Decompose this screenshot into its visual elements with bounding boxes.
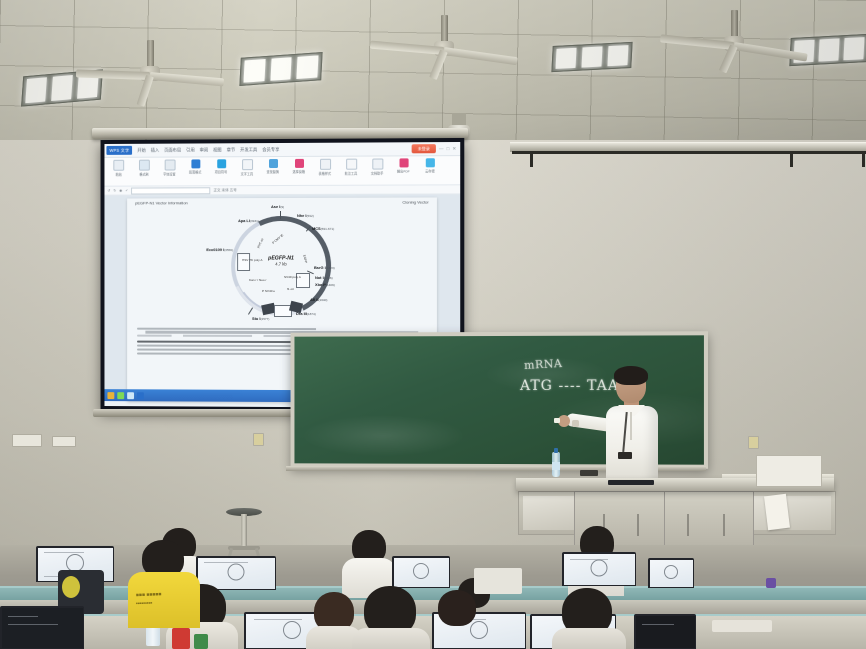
font-icon bbox=[164, 160, 175, 171]
paragraph-icon bbox=[191, 159, 200, 168]
remote-control[interactable] bbox=[580, 470, 598, 476]
redo-icon[interactable]: ↻ bbox=[113, 189, 116, 193]
plasmid-map-thumb bbox=[591, 560, 608, 577]
shirt-print-sub: ■■■■■■■■■ bbox=[136, 600, 153, 607]
ribbon-tab-0[interactable]: 开始 bbox=[137, 147, 145, 153]
laptop-lid bbox=[0, 606, 84, 649]
ribbon-button-cloud[interactable]: 云存储 bbox=[419, 158, 441, 173]
chalk-text-mrna: mRNA bbox=[524, 357, 563, 372]
start-icon[interactable] bbox=[107, 392, 114, 399]
plasmid-tick bbox=[248, 307, 253, 314]
site-label-stu1: Stu I(2577) bbox=[252, 316, 269, 321]
doc-header-left: pEGFP-N1 Vector Information bbox=[135, 200, 188, 205]
style-field[interactable] bbox=[131, 187, 210, 194]
ribbon-toolbar: 粘贴 格式刷 字体设置 段落格式 项目符号 文字工具 查找替换 选择窗格 表格样… bbox=[104, 156, 460, 187]
plasmid-map-thumb bbox=[283, 621, 301, 639]
desk-items bbox=[712, 620, 772, 632]
classroom-photo: WPS 文字 开始 插入 页面布局 引用 审阅 视图 章节 开发工具 会员专享 … bbox=[0, 0, 866, 649]
table-styles-icon bbox=[320, 159, 331, 170]
ribbon-tab-8[interactable]: 会员专享 bbox=[262, 147, 279, 153]
feature-label-psv40: P SV40 e bbox=[262, 289, 275, 293]
shirt-print: ■■■ ■■■■■ bbox=[136, 592, 162, 599]
minimize-icon[interactable]: — bbox=[439, 146, 444, 151]
doc-line bbox=[8, 624, 58, 625]
feature-label-kanr: Kan r / Neo r bbox=[249, 278, 266, 282]
wristwatch bbox=[572, 420, 579, 427]
green-item bbox=[194, 634, 208, 649]
wps-icon[interactable] bbox=[137, 392, 144, 399]
site-label-eco0109: Eco0109 I(3556) bbox=[206, 247, 233, 252]
cabinet-vent bbox=[637, 514, 639, 536]
doc-assistant-icon bbox=[372, 158, 383, 169]
cabinet-vent bbox=[723, 514, 725, 536]
style-value: 正文 宋体 五号 bbox=[213, 188, 236, 193]
laptop-screen bbox=[636, 616, 695, 648]
ribbon-tab-4[interactable]: 审阅 bbox=[200, 147, 209, 153]
doc-line bbox=[204, 562, 248, 563]
ribbon-button-format-painter[interactable]: 格式刷 bbox=[133, 160, 155, 177]
undo-icon[interactable]: ↺ bbox=[107, 189, 110, 193]
site-label-apa-li: Apa LI(3931) bbox=[238, 218, 259, 223]
red-cup bbox=[172, 628, 190, 649]
site-label-bsrg1: BsrG I(1323) bbox=[314, 265, 335, 270]
student-yellow-shirt: ■■■ ■■■■■ ■■■■■■■■■ bbox=[128, 540, 200, 620]
polo-placket bbox=[630, 412, 632, 440]
ribbon-button-selection-pane[interactable]: 选择窗格 bbox=[288, 159, 310, 174]
ribbon-button-export-pdf[interactable]: 输出PDF bbox=[392, 158, 414, 173]
bullets-icon bbox=[217, 159, 226, 168]
zoom-icon[interactable]: ◉ bbox=[119, 189, 122, 193]
ribbon-tab-6[interactable]: 章节 bbox=[227, 147, 236, 153]
ribbon-button-font[interactable]: 字体设置 bbox=[159, 159, 181, 176]
site-label-afl2: Afl II(1640) bbox=[310, 297, 327, 302]
stool-post bbox=[241, 514, 247, 548]
feature-label-f1-ori: f1 ori bbox=[287, 287, 294, 291]
ribbon-tab-1[interactable]: 插入 bbox=[151, 147, 159, 153]
belt-pouch bbox=[618, 452, 632, 459]
comment-icon bbox=[346, 159, 357, 170]
site-label-nhe1: Nhe I(592) bbox=[297, 213, 314, 218]
ribbon-button-paragraph[interactable]: 段落格式 bbox=[184, 159, 206, 174]
doc-line bbox=[8, 616, 38, 617]
ribbon-tab-3[interactable]: 引用 bbox=[186, 147, 195, 153]
plasmid-tick bbox=[280, 211, 281, 219]
plasmid-label: pEGFP-N1 4.7 kb bbox=[268, 256, 294, 267]
chalk-stick bbox=[554, 418, 560, 423]
student-laptop[interactable] bbox=[562, 552, 636, 590]
ceiling bbox=[0, 0, 866, 146]
app-name-chip: WPS 文字 bbox=[106, 146, 132, 155]
curtain-hook bbox=[862, 153, 865, 167]
laptop-lid bbox=[648, 558, 694, 588]
plasmid-map-thumb bbox=[228, 564, 245, 581]
find-replace-icon bbox=[269, 159, 278, 168]
purple-item bbox=[766, 578, 776, 588]
caption-heading-line bbox=[137, 341, 304, 344]
student-shirt bbox=[552, 628, 626, 649]
plasmid-map-thumb bbox=[664, 565, 678, 579]
curtain-rail-bar bbox=[512, 151, 866, 154]
site-label-xba1: Xba I*(1409) bbox=[315, 282, 335, 287]
student-laptop[interactable] bbox=[634, 614, 696, 649]
laptop-screen bbox=[650, 560, 693, 587]
ceiling-projector-icon bbox=[452, 113, 466, 129]
laptop-screen bbox=[394, 558, 449, 587]
ribbon-tab-2[interactable]: 页面布局 bbox=[164, 147, 181, 153]
laptop-lid bbox=[392, 556, 450, 588]
sequence-row bbox=[137, 328, 427, 331]
lecturer-torso bbox=[606, 406, 658, 484]
ribbon-button-comments[interactable]: 批注工具 bbox=[340, 159, 362, 176]
site-label-dra3: Dra III(1874) bbox=[296, 311, 316, 316]
cabinet-vent bbox=[687, 514, 689, 536]
teacher-laptop[interactable] bbox=[608, 480, 654, 485]
student-shirt bbox=[352, 628, 430, 649]
small-whiteboard bbox=[756, 455, 822, 487]
export-pdf-icon bbox=[399, 158, 408, 167]
curtain-hook bbox=[530, 153, 533, 167]
doc-header-right: Cloning Vector bbox=[402, 200, 428, 205]
selection-pane-icon bbox=[294, 159, 303, 168]
format-painter-icon bbox=[138, 160, 149, 171]
student bbox=[342, 530, 396, 592]
laptop-lid bbox=[634, 614, 696, 649]
doc-line bbox=[254, 619, 302, 620]
text-tools-icon bbox=[242, 159, 253, 170]
papers bbox=[764, 494, 790, 530]
sticker-patch bbox=[62, 576, 80, 598]
laptop-screen bbox=[2, 608, 83, 648]
wall-outlet[interactable] bbox=[748, 436, 759, 449]
site-label-mcs: MCS(591-671) bbox=[312, 226, 334, 231]
site-label-ase1: Ase I(9) bbox=[271, 204, 284, 209]
curtain-hook bbox=[790, 153, 793, 167]
browser-icon[interactable] bbox=[127, 392, 134, 399]
laptop-screen bbox=[564, 554, 635, 585]
student-laptop[interactable] bbox=[648, 558, 694, 592]
wall-socket[interactable] bbox=[52, 436, 76, 447]
bottle-label bbox=[552, 462, 560, 470]
wall-switch-panel[interactable] bbox=[12, 434, 42, 447]
ribbon-tab-5[interactable]: 视图 bbox=[213, 147, 222, 153]
doc-line bbox=[642, 624, 674, 625]
wall-outlet[interactable] bbox=[253, 433, 264, 446]
plasmid-map-thumb bbox=[413, 563, 429, 579]
feature-label-sv40-polya: SV40 poly A bbox=[284, 275, 301, 279]
ribbon-button-doc-assistant[interactable]: 文档助手 bbox=[366, 158, 388, 175]
ribbon-button-paste[interactable]: 粘贴 bbox=[107, 160, 129, 177]
site-label-not1: Not I(1396) bbox=[315, 275, 333, 280]
check-icon: ✓ bbox=[125, 189, 128, 193]
ribbon-button-table-styles[interactable]: 表格样式 bbox=[314, 159, 336, 176]
maximize-icon[interactable]: □ bbox=[447, 146, 450, 151]
doc-line bbox=[44, 552, 84, 553]
lecturer-hair bbox=[614, 366, 648, 385]
close-icon[interactable]: ✕ bbox=[452, 146, 456, 152]
paste-icon bbox=[113, 160, 124, 171]
ribbon-tab-7[interactable]: 开发工具 bbox=[240, 147, 257, 153]
student-head bbox=[438, 590, 476, 626]
laptop-lid bbox=[562, 552, 636, 586]
student bbox=[352, 586, 430, 649]
cloud-icon bbox=[425, 158, 434, 167]
student bbox=[430, 590, 482, 648]
plasmid-size: 4.7 kb bbox=[268, 262, 294, 267]
feature-label-hsvtk: HSV TK poly A bbox=[242, 258, 262, 262]
plasmid-map: pEGFP-N1 4.7 kb Ase I(9) Nhe I(592) MCS(… bbox=[222, 207, 340, 325]
ribbon-button-find-replace[interactable]: 查找替换 bbox=[262, 159, 284, 174]
account-login-button[interactable]: 未登录 bbox=[412, 144, 436, 153]
lecturer bbox=[598, 368, 670, 493]
doc-line bbox=[570, 559, 608, 560]
ribbon-button-bullets[interactable]: 项目符号 bbox=[210, 159, 232, 174]
student bbox=[552, 588, 626, 649]
ribbon-button-text-tools[interactable]: 文字工具 bbox=[236, 159, 258, 176]
student-laptop[interactable] bbox=[0, 606, 84, 649]
explorer-icon[interactable] bbox=[117, 392, 124, 399]
